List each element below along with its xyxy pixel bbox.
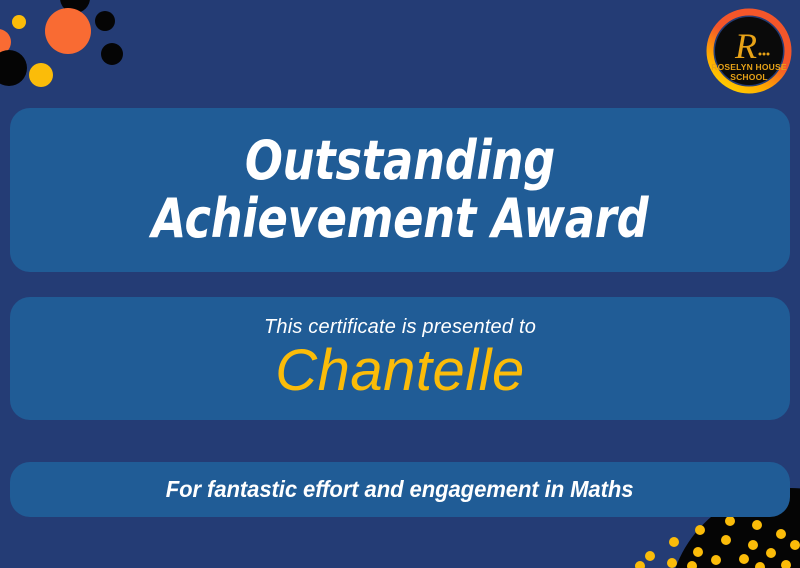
award-reason: For fantastic effort and engagement in M…: [166, 476, 634, 503]
certificate-canvas: R ROSELYN HOUSE SCHOOL Outstanding Achie…: [0, 0, 800, 568]
logo-monogram-R: R: [734, 26, 757, 66]
school-logo-svg: R ROSELYN HOUSE SCHOOL: [706, 8, 792, 94]
title-panel: Outstanding Achievement Award: [10, 108, 790, 272]
reason-panel: For fantastic effort and engagement in M…: [10, 462, 790, 517]
presented-to-label: This certificate is presented to: [264, 316, 536, 339]
logo-line1: ROSELYN HOUSE: [711, 62, 787, 72]
recipient-panel: This certificate is presented to Chantel…: [10, 297, 790, 420]
decor-cluster-top-left: [0, 0, 123, 87]
recipient-name: Chantelle: [275, 341, 525, 402]
logo-line2: SCHOOL: [730, 72, 768, 82]
school-logo: R ROSELYN HOUSE SCHOOL: [706, 8, 792, 94]
certificate-title: Outstanding Achievement Award: [41, 132, 759, 248]
